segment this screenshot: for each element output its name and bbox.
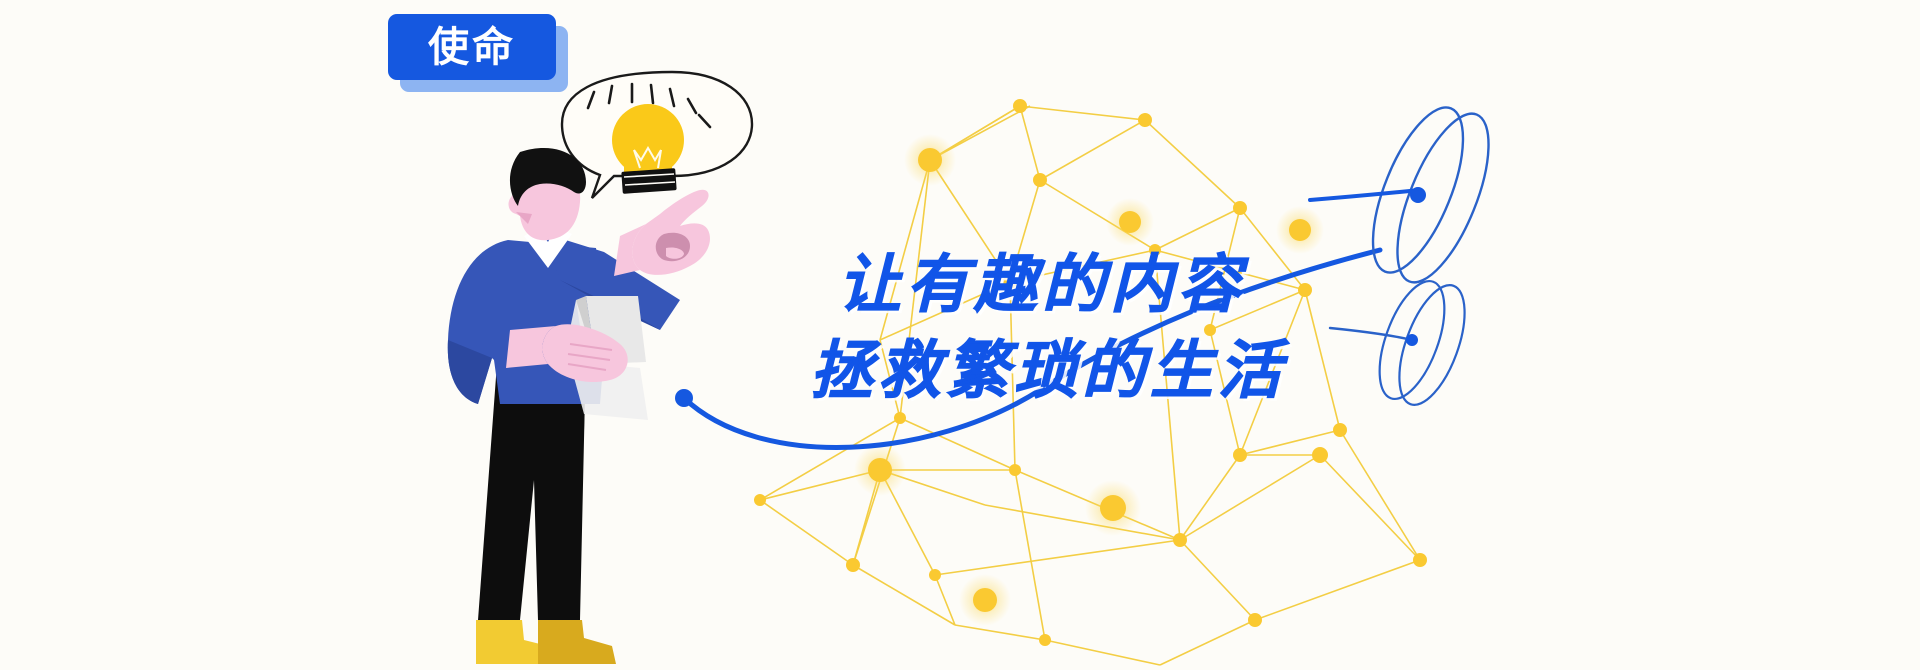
lightbulb-base (621, 168, 676, 194)
character-shoes (476, 620, 616, 664)
character-head (509, 148, 586, 240)
shoe-right (538, 620, 616, 664)
character-illustration (0, 0, 1920, 670)
mission-banner: 使命 让有趣的内容 拯救繁琐的生活 (0, 0, 1920, 670)
character-pointing-hand (614, 190, 710, 276)
